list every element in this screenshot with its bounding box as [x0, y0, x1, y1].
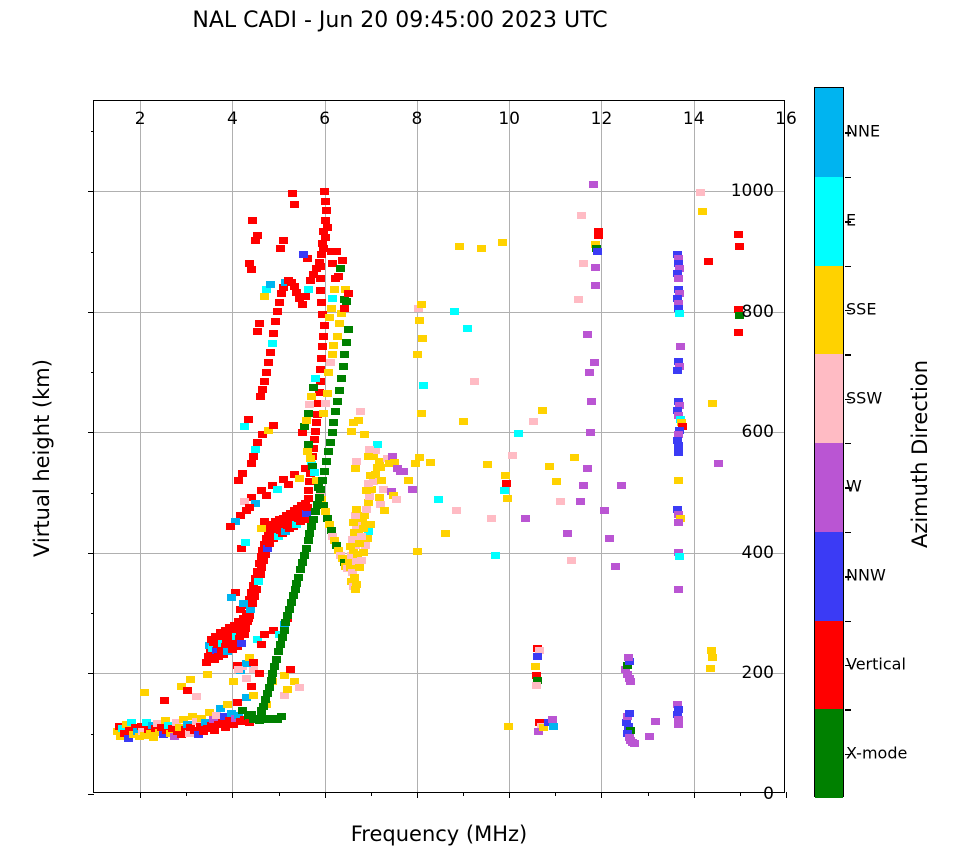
- scatter-point: [233, 699, 242, 706]
- scatter-point: [574, 296, 583, 303]
- scatter-point: [624, 654, 633, 661]
- scatter-point: [645, 733, 654, 740]
- scatter-point: [570, 454, 579, 461]
- scatter-point: [698, 208, 707, 215]
- scatter-point: [455, 243, 464, 250]
- scatter-point: [502, 480, 511, 487]
- scatter-point: [279, 237, 288, 244]
- scatter-point: [364, 499, 373, 506]
- y-tick-minor: [91, 372, 95, 373]
- scatter-point: [268, 670, 277, 677]
- scatter-point: [309, 271, 318, 278]
- scatter-point: [304, 487, 313, 494]
- y-tick-label: 400: [742, 543, 774, 563]
- colorbar-label-w: W: [846, 477, 862, 496]
- scatter-point: [674, 449, 683, 456]
- scatter-point: [626, 678, 635, 685]
- scatter-point: [300, 552, 309, 559]
- scatter-point: [316, 287, 325, 294]
- scatter-point: [355, 540, 364, 547]
- scatter-point: [280, 672, 289, 679]
- scatter-point: [326, 439, 335, 446]
- x-tick: [786, 792, 787, 798]
- scatter-point: [365, 446, 374, 453]
- scatter-point: [441, 530, 450, 537]
- scatter-point: [239, 600, 248, 607]
- y-tick: [88, 673, 94, 674]
- scatter-point: [226, 523, 235, 530]
- scatter-point: [192, 693, 201, 700]
- scatter-point: [262, 492, 271, 499]
- scatter-point: [304, 441, 313, 448]
- scatter-point: [249, 659, 258, 666]
- colorbar-title: Azimuth Direction: [908, 174, 932, 734]
- scatter-point: [274, 648, 283, 655]
- scatter-point: [404, 477, 413, 484]
- scatter-point: [253, 328, 262, 335]
- scatter-point: [500, 487, 509, 494]
- scatter-point: [290, 201, 299, 208]
- scatter-points: [94, 101, 784, 792]
- colorbar-boundary-tick: [845, 266, 851, 267]
- scatter-point: [317, 299, 326, 306]
- scatter-point: [237, 545, 246, 552]
- colorbar-boundary-tick: [845, 709, 851, 710]
- x-tick-label: 14: [683, 109, 705, 129]
- scatter-point: [321, 400, 330, 407]
- plot-area: 24681012141602004006008001000: [93, 100, 785, 793]
- scatter-point: [306, 455, 315, 462]
- scatter-point: [504, 723, 513, 730]
- scatter-point: [258, 386, 267, 393]
- scatter-point: [246, 606, 255, 613]
- colorbar-segment-nne[interactable]: [815, 88, 843, 177]
- scatter-point: [278, 634, 287, 641]
- colorbar-boundary-tick: [845, 532, 851, 533]
- scatter-point: [316, 486, 325, 493]
- scatter-point: [332, 248, 341, 255]
- colorbar-boundary-tick: [845, 354, 851, 355]
- scatter-point: [419, 382, 428, 389]
- scatter-point: [415, 317, 424, 324]
- scatter-point: [302, 545, 311, 552]
- scatter-point: [583, 331, 592, 338]
- scatter-point: [320, 188, 329, 195]
- y-tick-minor: [91, 613, 95, 614]
- scatter-point: [563, 530, 572, 537]
- scatter-point: [276, 641, 285, 648]
- scatter-point: [262, 369, 271, 376]
- scatter-point: [323, 224, 332, 231]
- scatter-point: [301, 293, 310, 300]
- scatter-point: [305, 401, 314, 408]
- scatter-point: [273, 486, 282, 493]
- x-axis-title: Frequency (MHz): [93, 822, 785, 846]
- scatter-point: [514, 430, 523, 437]
- scatter-point: [591, 282, 600, 289]
- scatter-point: [696, 189, 705, 196]
- scatter-point: [309, 384, 318, 391]
- scatter-point: [269, 422, 278, 429]
- colorbar-label-sse: SSE: [846, 299, 876, 318]
- scatter-point: [325, 314, 334, 321]
- page-title: NAL CADI - Jun 20 09:45:00 2023 UTC: [0, 8, 800, 33]
- scatter-point: [352, 581, 361, 588]
- scatter-point: [245, 260, 254, 267]
- scatter-point: [298, 301, 307, 308]
- scatter-point: [244, 615, 253, 622]
- x-tick: [509, 792, 510, 798]
- scatter-point: [533, 653, 542, 660]
- scatter-point: [300, 516, 309, 523]
- scatter-point: [567, 557, 576, 564]
- scatter-point: [351, 512, 360, 519]
- scatter-point: [328, 429, 337, 436]
- x-tick: [140, 792, 141, 798]
- scatter-point: [286, 666, 295, 673]
- scatter-point: [674, 586, 683, 593]
- y-axis-title: Virtual height (km): [30, 178, 54, 738]
- scatter-point: [283, 686, 292, 693]
- colorbar-segment-vertical[interactable]: [815, 621, 843, 710]
- scatter-point: [299, 251, 308, 258]
- scatter-point: [248, 217, 257, 224]
- scatter-point: [323, 390, 332, 397]
- scatter-point: [266, 349, 275, 356]
- scatter-point: [333, 398, 342, 405]
- scatter-point: [579, 260, 588, 267]
- scatter-point: [577, 212, 586, 219]
- scatter-point: [360, 431, 369, 438]
- scatter-point: [317, 251, 326, 258]
- x-tick-minor: [648, 792, 649, 796]
- scatter-point: [140, 689, 149, 696]
- x-tick-minor: [555, 792, 556, 796]
- scatter-point: [375, 494, 384, 501]
- scatter-point: [415, 454, 424, 461]
- scatter-point: [411, 460, 420, 467]
- scatter-point: [203, 671, 212, 678]
- scatter-point: [714, 460, 723, 467]
- scatter-point: [675, 553, 684, 560]
- y-tick-minor: [91, 131, 95, 132]
- scatter-point: [257, 641, 266, 648]
- scatter-point: [576, 498, 585, 505]
- scatter-point: [257, 707, 266, 714]
- scatter-point: [579, 482, 588, 489]
- x-tick: [325, 792, 326, 798]
- scatter-point: [399, 468, 408, 475]
- scatter-point: [545, 463, 554, 470]
- scatter-point: [270, 663, 279, 670]
- scatter-point: [354, 417, 363, 424]
- scatter-point: [241, 625, 250, 632]
- scatter-point: [229, 678, 238, 685]
- scatter-point: [256, 571, 265, 578]
- scatter-point: [521, 515, 530, 522]
- scatter-point: [281, 619, 290, 626]
- scatter-point: [417, 301, 426, 308]
- scatter-point: [344, 290, 353, 297]
- scatter-point: [708, 654, 717, 661]
- y-tick: [88, 432, 94, 433]
- scatter-point: [261, 551, 270, 558]
- scatter-point: [426, 459, 435, 466]
- scatter-point: [244, 416, 253, 423]
- scatter-point: [335, 320, 344, 327]
- scatter-point: [463, 325, 472, 332]
- scatter-point: [706, 665, 715, 672]
- colorbar-segment-sse[interactable]: [815, 266, 843, 355]
- scatter-point: [337, 375, 346, 382]
- scatter-point: [257, 525, 266, 532]
- scatter-point: [605, 535, 614, 542]
- scatter-point: [287, 599, 296, 606]
- scatter-point: [303, 448, 312, 455]
- x-tick-label: 4: [227, 109, 238, 129]
- scatter-point: [349, 519, 358, 526]
- scatter-point: [284, 481, 293, 488]
- x-tick: [694, 792, 695, 798]
- scatter-point: [392, 496, 401, 503]
- scatter-point: [708, 400, 717, 407]
- scatter-point: [234, 666, 243, 673]
- scatter-point: [234, 477, 243, 484]
- scatter-point: [362, 487, 371, 494]
- y-tick: [88, 794, 94, 795]
- scatter-point: [183, 687, 192, 694]
- scatter-point: [674, 721, 683, 728]
- scatter-point: [470, 378, 479, 385]
- scatter-point: [674, 275, 683, 282]
- ionogram-figure: NAL CADI - Jun 20 09:45:00 2023 UTC 2468…: [0, 0, 958, 857]
- scatter-point: [320, 468, 329, 475]
- colorbar-boundary-tick: [845, 443, 851, 444]
- colorbar-segment-ssw[interactable]: [815, 354, 843, 443]
- scatter-point: [673, 367, 682, 374]
- scatter-point: [321, 234, 330, 241]
- scatter-point: [483, 461, 492, 468]
- colorbar-label-x-mode: X-mode: [846, 743, 907, 762]
- scatter-point: [272, 656, 281, 663]
- scatter-point: [186, 676, 195, 683]
- scatter-point: [327, 305, 336, 312]
- scatter-point: [587, 398, 596, 405]
- colorbar-segment-w[interactable]: [815, 443, 843, 532]
- scatter-point: [328, 351, 337, 358]
- scatter-point: [503, 495, 512, 502]
- scatter-point: [340, 351, 349, 358]
- scatter-point: [549, 723, 558, 730]
- colorbar-segment-x-mode[interactable]: [815, 709, 843, 798]
- colorbar-boundary-tick: [845, 177, 851, 178]
- scatter-point: [417, 410, 426, 417]
- scatter-point: [335, 387, 344, 394]
- scatter-point: [674, 519, 683, 526]
- scatter-point: [556, 498, 565, 505]
- scatter-point: [630, 740, 639, 747]
- scatter-point: [344, 326, 353, 333]
- scatter-point: [338, 257, 347, 264]
- scatter-point: [450, 308, 459, 315]
- scatter-point: [260, 631, 269, 638]
- y-tick-label: 200: [742, 663, 774, 683]
- scatter-point: [501, 472, 510, 479]
- scatter-point: [309, 516, 318, 523]
- scatter-point: [625, 710, 634, 717]
- scatter-point: [318, 477, 327, 484]
- scatter-point: [256, 393, 265, 400]
- scatter-point: [734, 231, 743, 238]
- x-tick: [232, 792, 233, 798]
- scatter-point: [352, 506, 361, 513]
- scatter-point: [413, 548, 422, 555]
- scatter-point: [315, 259, 324, 266]
- scatter-point: [294, 574, 303, 581]
- scatter-point: [357, 557, 366, 564]
- scatter-point: [586, 429, 595, 436]
- scatter-point: [242, 675, 251, 682]
- scatter-point: [735, 243, 744, 250]
- scatter-point: [334, 273, 343, 280]
- scatter-point: [247, 266, 256, 273]
- scatter-point: [304, 537, 313, 544]
- scatter-point: [237, 640, 246, 647]
- scatter-point: [321, 198, 330, 205]
- scatter-point: [324, 448, 333, 455]
- scatter-point: [477, 245, 486, 252]
- x-tick-minor: [463, 792, 464, 796]
- scatter-point: [330, 286, 339, 293]
- scatter-point: [380, 507, 389, 514]
- scatter-point: [268, 340, 277, 347]
- scatter-point: [356, 408, 365, 415]
- scatter-point: [254, 578, 263, 585]
- scatter-point: [355, 564, 364, 571]
- scatter-point: [377, 477, 386, 484]
- scatter-point: [240, 631, 249, 638]
- scatter-point: [326, 359, 335, 366]
- scatter-point: [676, 343, 685, 350]
- scatter-point: [600, 507, 609, 514]
- scatter-point: [359, 525, 368, 532]
- scatter-point: [590, 359, 599, 366]
- scatter-point: [583, 465, 592, 472]
- scatter-point: [273, 308, 282, 315]
- scatter-point: [259, 557, 268, 564]
- scatter-point: [236, 606, 245, 613]
- scatter-point: [260, 518, 269, 525]
- scatter-point: [311, 508, 320, 515]
- scatter-point: [304, 410, 313, 417]
- scatter-point: [252, 586, 261, 593]
- scatter-point: [589, 181, 598, 188]
- scatter-point: [617, 482, 626, 489]
- scatter-point: [247, 460, 256, 467]
- scatter-point: [487, 515, 496, 522]
- scatter-point: [333, 333, 342, 340]
- scatter-point: [459, 418, 468, 425]
- scatter-point: [364, 453, 373, 460]
- scatter-point: [312, 265, 321, 272]
- scatter-point: [318, 343, 327, 350]
- colorbar-segment-e[interactable]: [815, 177, 843, 266]
- scatter-point: [288, 190, 297, 197]
- scatter-point: [328, 295, 337, 302]
- scatter-point: [271, 318, 280, 325]
- x-tick-label: 8: [412, 109, 423, 129]
- scatter-point: [304, 495, 313, 502]
- scatter-point: [413, 351, 422, 358]
- scatter-point: [305, 530, 314, 537]
- colorbar-label-e: E: [846, 211, 856, 230]
- scatter-point: [310, 469, 319, 476]
- y-tick-label: 0: [763, 784, 774, 804]
- scatter-point: [283, 612, 292, 619]
- scatter-point: [307, 523, 316, 530]
- scatter-point: [302, 417, 311, 424]
- scatter-point: [280, 692, 289, 699]
- scatter-point: [245, 504, 254, 511]
- scatter-point: [277, 713, 286, 720]
- scatter-point: [267, 677, 276, 684]
- scatter-point: [434, 496, 443, 503]
- colorbar-label-nne: NNE: [846, 122, 880, 141]
- scatter-point: [160, 697, 169, 704]
- scatter-point: [253, 439, 262, 446]
- x-tick-label: 6: [319, 109, 330, 129]
- scatter-point: [319, 410, 328, 417]
- y-tick: [88, 191, 94, 192]
- scatter-point: [264, 359, 273, 366]
- scatter-point: [255, 670, 264, 677]
- y-tick-label: 800: [742, 302, 774, 322]
- x-tick-label: 2: [135, 109, 146, 129]
- x-tick-label: 12: [591, 109, 613, 129]
- scatter-point: [307, 393, 316, 400]
- y-tick: [88, 312, 94, 313]
- colorbar[interactable]: [814, 87, 844, 797]
- scatter-point: [508, 452, 517, 459]
- scatter-point: [280, 627, 289, 634]
- x-tick-minor: [371, 792, 372, 796]
- scatter-point: [532, 682, 541, 689]
- scatter-point: [296, 566, 305, 573]
- scatter-point: [611, 563, 620, 570]
- scatter-point: [304, 286, 313, 293]
- scatter-point: [260, 293, 269, 300]
- colorbar-label-ssw: SSW: [846, 388, 882, 407]
- scatter-point: [359, 549, 368, 556]
- y-tick-minor: [91, 734, 95, 735]
- scatter-point: [311, 375, 320, 382]
- scatter-point: [257, 564, 266, 571]
- scatter-point: [289, 592, 298, 599]
- scatter-point: [529, 418, 538, 425]
- y-tick-minor: [91, 252, 95, 253]
- scatter-point: [329, 419, 338, 426]
- colorbar-segment-nnw[interactable]: [815, 532, 843, 621]
- scatter-point: [311, 428, 320, 435]
- scatter-point: [491, 552, 500, 559]
- scatter-point: [223, 701, 232, 708]
- scatter-point: [498, 239, 507, 246]
- scatter-point: [322, 458, 331, 465]
- scatter-point: [538, 407, 547, 414]
- scatter-point: [675, 310, 684, 317]
- scatter-point: [357, 533, 366, 540]
- y-tick-label: 1000: [731, 181, 774, 201]
